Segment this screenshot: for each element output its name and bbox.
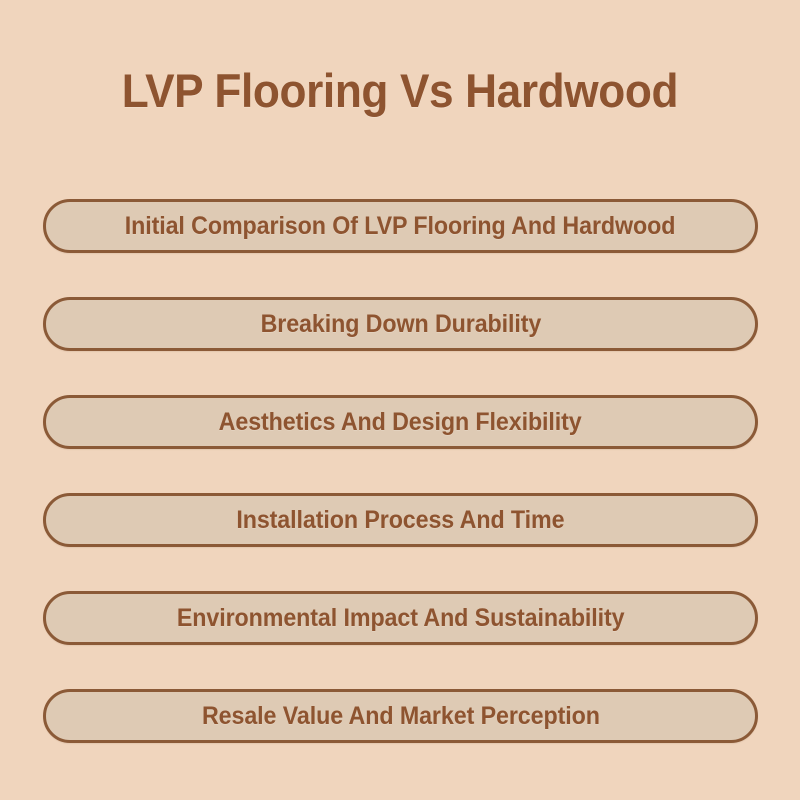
section-pill-2[interactable]: Breaking Down Durability: [43, 297, 758, 351]
section-pill-1-label: Initial Comparison Of LVP Flooring And H…: [125, 214, 676, 239]
section-pill-5[interactable]: Environmental Impact And Sustainability: [43, 591, 758, 645]
section-pill-4-label: Installation Process And Time: [236, 508, 564, 533]
section-pill-3-label: Aesthetics And Design Flexibility: [219, 410, 582, 435]
section-pill-4[interactable]: Installation Process And Time: [43, 493, 758, 547]
infographic-canvas: LVP Flooring Vs Hardwood Initial Compari…: [0, 0, 800, 800]
section-pill-2-label: Breaking Down Durability: [260, 312, 541, 337]
section-list: Initial Comparison Of LVP Flooring And H…: [43, 199, 758, 743]
title-container: LVP Flooring Vs Hardwood: [0, 0, 800, 182]
section-pill-6-label: Resale Value And Market Perception: [202, 704, 600, 729]
section-pill-1[interactable]: Initial Comparison Of LVP Flooring And H…: [43, 199, 758, 253]
page-title: LVP Flooring Vs Hardwood: [122, 65, 678, 117]
section-pill-5-label: Environmental Impact And Sustainability: [177, 606, 625, 631]
section-pill-3[interactable]: Aesthetics And Design Flexibility: [43, 395, 758, 449]
section-pill-6[interactable]: Resale Value And Market Perception: [43, 689, 758, 743]
